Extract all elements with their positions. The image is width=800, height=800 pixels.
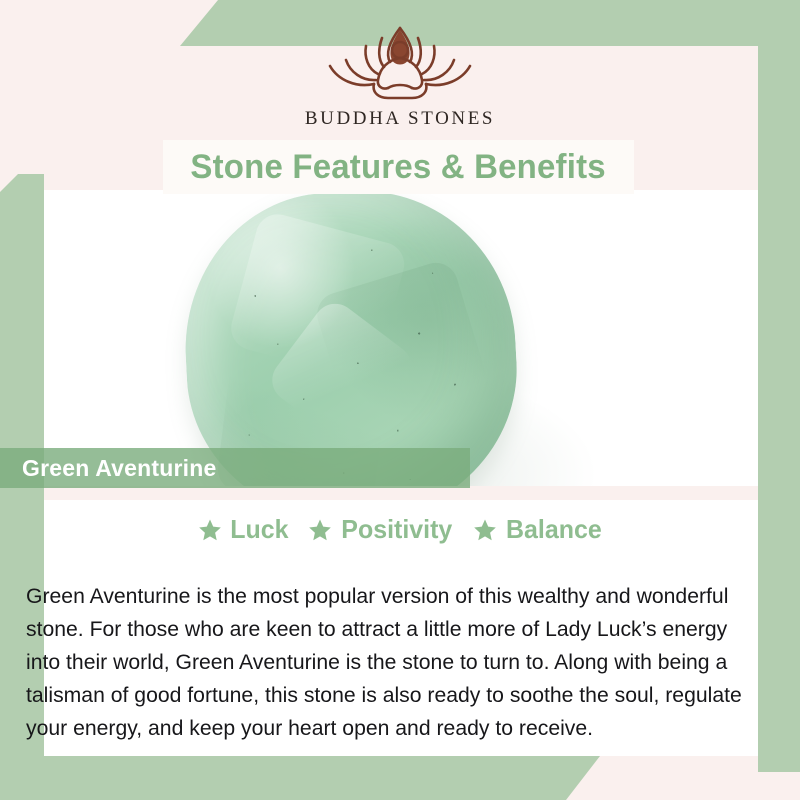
benefit-keyword-item: Positivity (308, 514, 455, 545)
benefit-keyword-label: Balance (506, 514, 602, 545)
stone-speckles (178, 190, 525, 486)
stone-name: Green Aventurine (22, 455, 217, 482)
benefit-keyword-list: Luck Positivity Balance (44, 514, 758, 545)
decor-bottom-left-band (0, 756, 800, 800)
stone-photo (44, 190, 758, 486)
benefit-keyword-item: Luck (198, 514, 290, 545)
green-aventurine-stone-image (178, 190, 525, 486)
stone-text-panel: Luck Positivity Balance Green Aventurine… (44, 500, 758, 756)
star-icon (308, 518, 332, 542)
star-icon (198, 518, 222, 542)
brand-logo: BUDDHA STONES (305, 22, 495, 130)
stone-feature-poster: BUDDHA STONES Stone Features & Benefits … (0, 0, 800, 800)
brand-header: BUDDHA STONES (0, 0, 800, 146)
stone-name-bar: Green Aventurine (0, 448, 470, 488)
star-icon (473, 518, 497, 542)
lotus-meditation-figure-icon (316, 22, 484, 104)
stone-photo-panel (44, 190, 758, 486)
benefit-keyword-label: Positivity (341, 514, 452, 545)
brand-name: BUDDHA STONES (305, 108, 495, 130)
page-title: Stone Features & Benefits (191, 148, 606, 187)
benefit-keyword-item: Balance (473, 514, 604, 545)
page-title-band: Stone Features & Benefits (163, 140, 634, 194)
benefit-keyword-label: Luck (231, 514, 289, 545)
stone-description: Green Aventurine is the most popular ver… (26, 580, 763, 745)
